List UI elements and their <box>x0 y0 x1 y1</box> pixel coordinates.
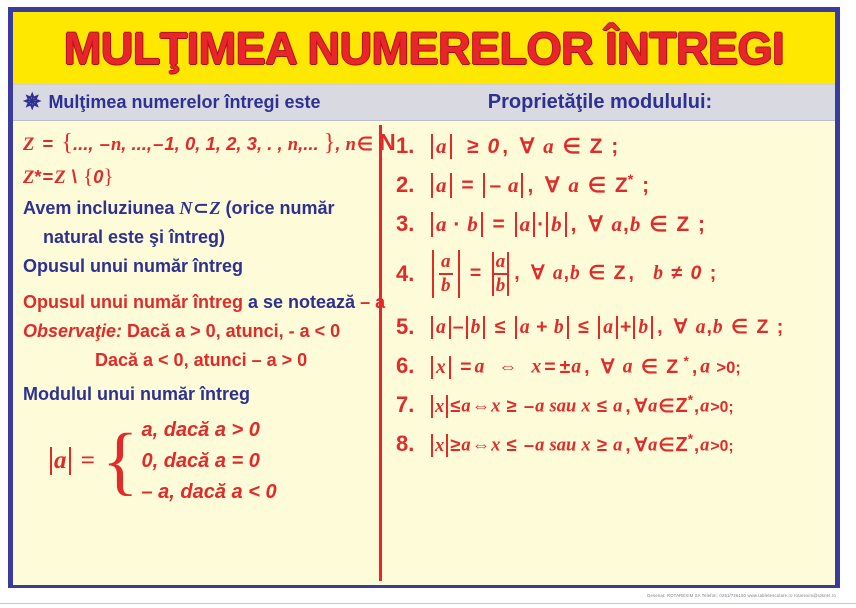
observation-line-1: Observaţie: Dacă a > 0, atunci, - a < 0 <box>23 322 371 340</box>
opposite-heading: Opusul unui număr întreg <box>23 257 371 275</box>
property-formula: a = – a, ∀ a ∈ Z* ; <box>430 172 652 198</box>
property-number: 2. <box>396 172 422 198</box>
property-formula: a–b ≤ a + b ≤ a+b, ∀ a,b ∈ Z ; <box>430 315 786 339</box>
inclusion-line-1: Avem incluziunea N⊂Z (orice număr <box>23 199 371 217</box>
property-row: 4. ab = ab, ∀ a,b ∈ Z, b ≠ 0 ; <box>396 250 825 298</box>
property-formula: x =a ⇔ x=±a, ∀ a ∈ Z *,a >0; <box>430 353 742 379</box>
footer-credit-text: Desenat: ROTAREXIM SA Telefon: 0251/7261… <box>647 593 836 598</box>
opposite-notation-line: Opusul unui număr întreg a se notează – … <box>23 293 371 311</box>
property-number: 4. <box>396 261 422 287</box>
property-number: 5. <box>396 314 422 340</box>
property-row: 7. x≤a⇔x ≥ –a sau x ≤ a,∀a∈Z*,a>0; <box>396 392 825 418</box>
left-column: Z = {..., –n, ...,–1, 0, 1, 2, 3, . , n,… <box>13 121 379 585</box>
inclusion-line-2: natural este şi întreg) <box>23 228 371 246</box>
poster-frame: MULŢIMEA NUMERELOR ÎNTREGI ✵ Mulţimea nu… <box>8 7 840 588</box>
right-column: 1. a ≥ 0, ∀ a ∈ Z ; 2. a = – a, ∀ a ∈ Z*… <box>382 121 835 585</box>
property-number: 1. <box>396 133 422 159</box>
piecewise-row: 0, dacă a = 0 <box>141 450 276 473</box>
property-row: 6. x =a ⇔ x=±a, ∀ a ∈ Z *,a >0; <box>396 353 825 379</box>
page-title: MULŢIMEA NUMERELOR ÎNTREGI <box>64 26 784 71</box>
observation-line-2: Dacă a < 0, atunci – a > 0 <box>23 351 371 369</box>
property-row: 5. a–b ≤ a + b ≤ a+b, ∀ a,b ∈ Z ; <box>396 314 825 340</box>
property-formula: x≥a⇔x ≤ –a sau x ≥ a,∀a∈Z*,a>0; <box>430 431 735 457</box>
poster-body: Z = {..., –n, ...,–1, 0, 1, 2, 3, . , n,… <box>13 121 835 585</box>
piecewise-rows: a, dacă a > 0 0, dacă a = 0 – a, dacă a … <box>141 419 276 504</box>
property-number: 3. <box>396 211 422 237</box>
title-bar: MULŢIMEA NUMERELOR ÎNTREGI <box>13 12 835 85</box>
property-formula: a ≥ 0, ∀ a ∈ Z ; <box>430 134 621 159</box>
property-formula: a · b = a·b, ∀ a,b ∈ Z ; <box>430 212 708 237</box>
heading-right-label: Proprietăţile modulului: <box>379 91 835 114</box>
property-row: 8. x≥a⇔x ≤ –a sau x ≥ a,∀a∈Z*,a>0; <box>396 431 825 457</box>
modulus-piecewise-definition: a = { a, dacă a > 0 0, dacă a = 0 – a, d… <box>23 419 371 504</box>
set-definition-line: Z = {..., –n, ...,–1, 0, 1, 2, 3, . , n,… <box>23 131 371 155</box>
footer-credit-strip: Desenat: ROTAREXIM SA Telefon: 0251/7261… <box>8 589 840 601</box>
piecewise-lhs: a = <box>49 447 98 475</box>
property-row: 3. a · b = a·b, ∀ a,b ∈ Z ; <box>396 211 825 237</box>
heading-left-group: ✵ Mulţimea numerelor întregi este <box>13 92 379 114</box>
property-formula: x≤a⇔x ≥ –a sau x ≤ a,∀a∈Z*,a>0; <box>430 392 735 418</box>
section-heading-bar: ✵ Mulţimea numerelor întregi este Propri… <box>13 85 835 121</box>
opposite-notation-blue: a se notează <box>248 292 355 312</box>
piecewise-brace: { <box>102 430 138 492</box>
property-row: 1. a ≥ 0, ∀ a ∈ Z ; <box>396 133 825 159</box>
z-star-definition-line: Z*=Z \ {0} <box>23 166 371 188</box>
opposite-notation-red-2: – a <box>355 292 385 312</box>
piecewise-row: – a, dacă a < 0 <box>141 481 276 504</box>
heading-left-label: Mulţimea numerelor întregi este <box>48 92 320 113</box>
opposite-notation-red-1: Opusul unui număr întreg <box>23 292 248 312</box>
property-formula: ab = ab, ∀ a,b ∈ Z, b ≠ 0 ; <box>430 250 719 298</box>
property-number: 6. <box>396 353 422 379</box>
piecewise-row: a, dacă a > 0 <box>141 419 276 442</box>
observation-label: Observaţie: <box>23 321 122 341</box>
modulus-heading: Modulul unui număr întreg <box>23 385 371 403</box>
bottom-rule <box>0 603 856 604</box>
asterisk-star-icon: ✵ <box>23 91 41 113</box>
property-number: 7. <box>396 392 422 418</box>
property-row: 2. a = – a, ∀ a ∈ Z* ; <box>396 172 825 198</box>
property-number: 8. <box>396 431 422 457</box>
